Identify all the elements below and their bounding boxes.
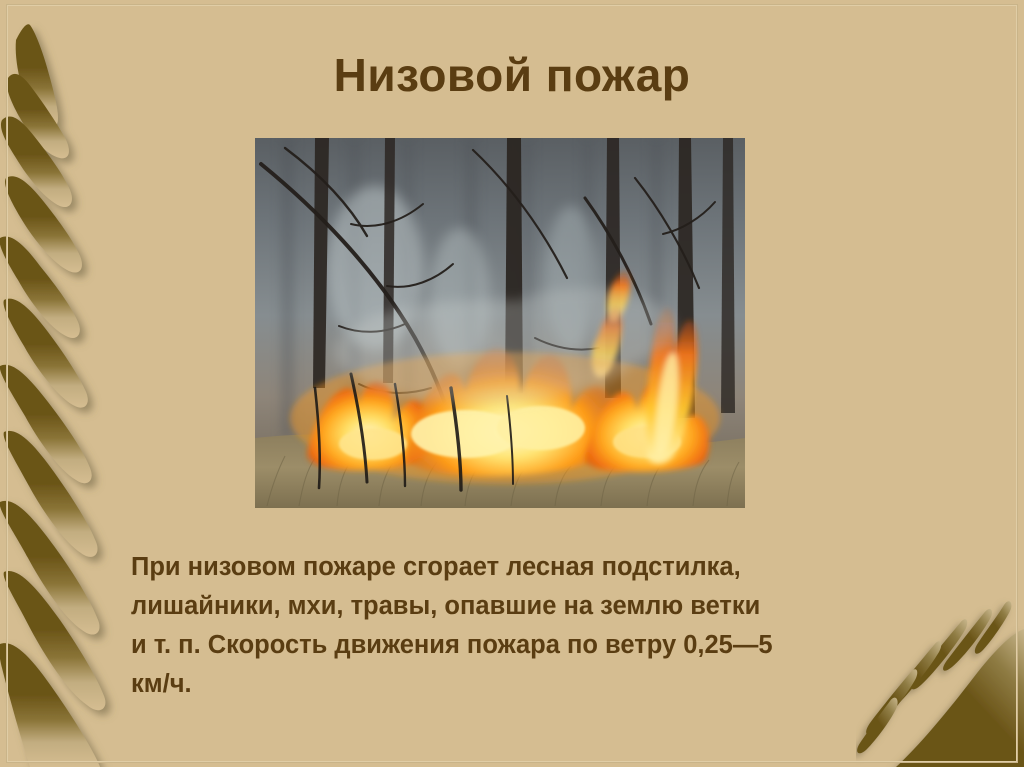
body-line-1: При низовом пожаре сгорает лесная подсти… — [131, 548, 941, 587]
forest-ground-fire-photo — [255, 138, 745, 508]
body-line-4: км/ч. — [131, 665, 941, 704]
body-line-3: и т. п. Скорость движения пожара по ветр… — [131, 626, 941, 665]
slide: Низовой пожар — [0, 0, 1024, 767]
body-text: При низовом пожаре сгорает лесная подсти… — [131, 548, 941, 704]
fir-branch-left-decoration — [0, 0, 132, 767]
page-title: Низовой пожар — [0, 48, 1024, 102]
body-line-2: лишайники, мхи, травы, опавшие на землю … — [131, 587, 941, 626]
